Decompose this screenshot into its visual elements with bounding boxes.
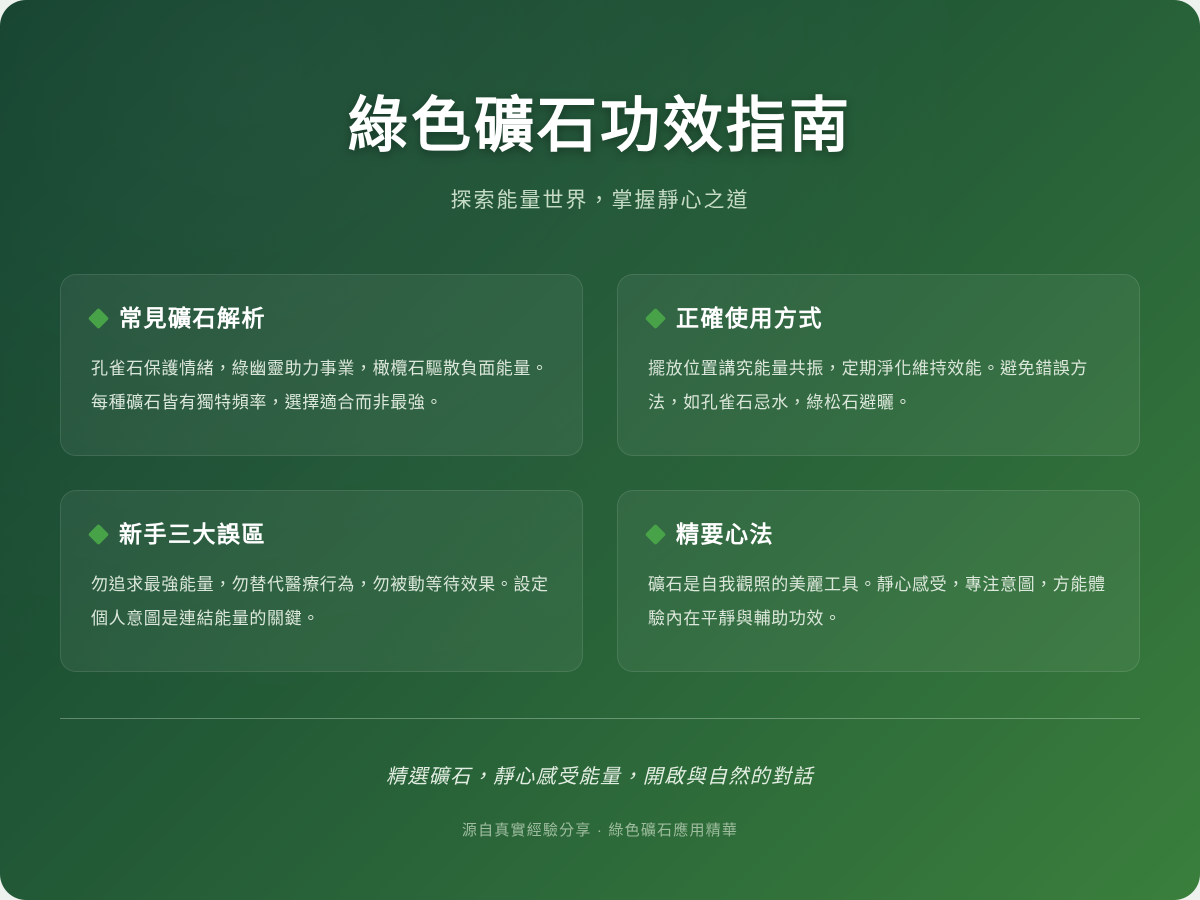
diamond-bullet-icon bbox=[88, 523, 109, 544]
info-card-key-principles: 精要心法 礦石是自我觀照的美麗工具。靜心感受，專注意圖，方能體驗內在平靜與輔助功… bbox=[617, 490, 1140, 672]
card-body: 勿追求最強能量，勿替代醫療行為，勿被動等待效果。設定個人意圖是連結能量的關鍵。 bbox=[91, 568, 552, 638]
card-body: 擺放位置講究能量共振，定期淨化維持效能。避免錯誤方法，如孔雀石忌水，綠松石避曬。 bbox=[648, 352, 1109, 422]
info-card-common-stones: 常見礦石解析 孔雀石保護情緒，綠幽靈助力事業，橄欖石驅散負面能量。每種礦石皆有獨… bbox=[60, 274, 583, 456]
card-title: 新手三大誤區 bbox=[119, 523, 266, 546]
diamond-bullet-icon bbox=[645, 523, 666, 544]
poster-header: 綠色礦石功效指南 探索能量世界，掌握靜心之道 bbox=[60, 0, 1140, 216]
card-header: 精要心法 bbox=[648, 523, 1109, 546]
footer-quote: 精選礦石，靜心感受能量，開啟與自然的對話 bbox=[60, 763, 1140, 791]
card-body: 礦石是自我觀照的美麗工具。靜心感受，專注意圖，方能體驗內在平靜與輔助功效。 bbox=[648, 568, 1109, 638]
footer-meta: 源自真實經驗分享 · 綠色礦石應用精華 bbox=[60, 820, 1140, 841]
poster-inner: 綠色礦石功效指南 探索能量世界，掌握靜心之道 常見礦石解析 孔雀石保護情緒，綠幽… bbox=[0, 0, 1200, 841]
page-title: 綠色礦石功效指南 bbox=[60, 92, 1140, 159]
card-header: 正確使用方式 bbox=[648, 307, 1109, 330]
card-body: 孔雀石保護情緒，綠幽靈助力事業，橄欖石驅散負面能量。每種礦石皆有獨特頻率，選擇適… bbox=[91, 352, 552, 422]
card-header: 常見礦石解析 bbox=[91, 307, 552, 330]
page-subtitle: 探索能量世界，掌握靜心之道 bbox=[60, 186, 1140, 215]
card-header: 新手三大誤區 bbox=[91, 523, 552, 546]
poster-canvas: 綠色礦石功效指南 探索能量世界，掌握靜心之道 常見礦石解析 孔雀石保護情緒，綠幽… bbox=[0, 0, 1200, 900]
info-card-beginner-mistakes: 新手三大誤區 勿追求最強能量，勿替代醫療行為，勿被動等待效果。設定個人意圖是連結… bbox=[60, 490, 583, 672]
card-title: 精要心法 bbox=[676, 523, 774, 546]
poster-footer: 精選礦石，靜心感受能量，開啟與自然的對話 源自真實經驗分享 · 綠色礦石應用精華 bbox=[60, 763, 1140, 841]
info-card-grid: 常見礦石解析 孔雀石保護情緒，綠幽靈助力事業，橄欖石驅散負面能量。每種礦石皆有獨… bbox=[60, 274, 1140, 672]
footer-divider bbox=[60, 718, 1140, 719]
diamond-bullet-icon bbox=[88, 307, 109, 328]
card-title: 正確使用方式 bbox=[676, 307, 823, 330]
diamond-bullet-icon bbox=[645, 307, 666, 328]
info-card-correct-usage: 正確使用方式 擺放位置講究能量共振，定期淨化維持效能。避免錯誤方法，如孔雀石忌水… bbox=[617, 274, 1140, 456]
card-title: 常見礦石解析 bbox=[119, 307, 266, 330]
